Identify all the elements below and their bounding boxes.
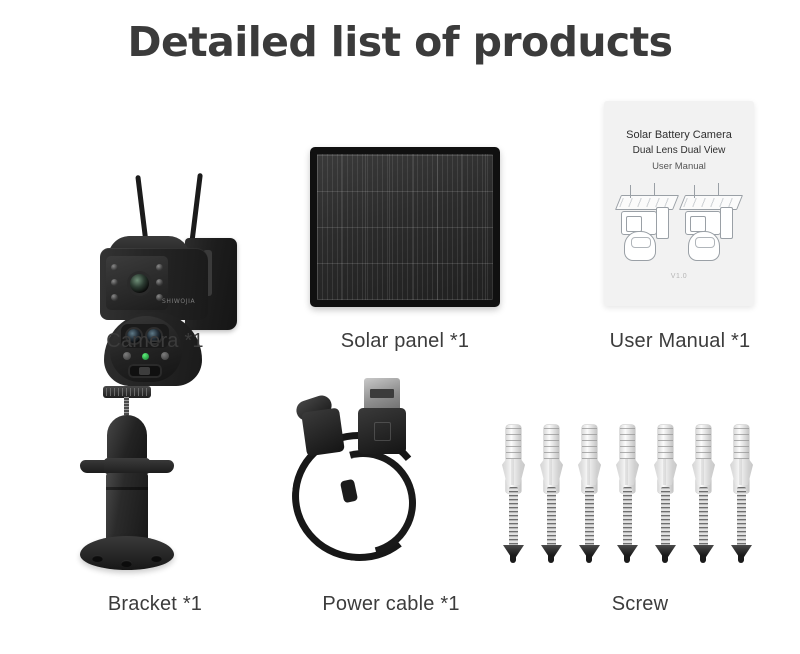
manual-cover: Solar Battery Camera Dual Lens Dual View…	[604, 101, 754, 306]
ir-led-icon	[111, 264, 118, 271]
camera-led-row	[123, 352, 169, 362]
manual-version: V1.0	[604, 273, 754, 280]
camera-speaker-icon	[128, 364, 162, 378]
ir-led-icon	[111, 279, 118, 286]
bracket-base-plate	[80, 536, 174, 570]
camera-illustration: SHIWOJIA	[90, 170, 290, 400]
figure-mount-arm	[656, 207, 669, 239]
caption-user-manual: User Manual *1	[560, 330, 800, 353]
bracket-collar	[104, 458, 150, 474]
ir-led-icon	[111, 294, 118, 301]
ir-led-icon	[123, 352, 131, 360]
ir-led-icon	[156, 279, 163, 286]
screw-shank	[547, 487, 556, 549]
manual-title-line3: User Manual	[604, 161, 754, 172]
product-cell-camera: SHIWOJIA Camera *1	[35, 85, 275, 355]
ir-led-icon	[161, 352, 169, 360]
product-cell-bracket: Bracket *1	[35, 378, 275, 628]
screw-unit	[728, 425, 754, 575]
bracket-screw-hole	[92, 555, 103, 562]
bracket-wing-right	[146, 460, 174, 473]
screw-unit	[652, 425, 678, 575]
power-cable-illustration	[276, 372, 451, 572]
figure-mount-arm	[720, 207, 733, 239]
user-manual-illustration: Solar Battery Camera Dual Lens Dual View…	[604, 101, 754, 306]
ir-led-icon	[156, 264, 163, 271]
product-cell-user-manual: Solar Battery Camera Dual Lens Dual View…	[560, 85, 800, 355]
screw-tip	[548, 555, 554, 563]
camera-lens-plate	[106, 256, 168, 310]
camera-main-lens-icon	[130, 274, 149, 293]
usb-c-housing	[301, 408, 345, 457]
screw-shank	[509, 487, 518, 549]
screw-tip	[510, 555, 516, 563]
screw-shank	[661, 487, 670, 549]
product-cell-power-cable: Power cable *1	[276, 372, 506, 628]
screw-unit	[538, 425, 564, 575]
figure-antenna-icon	[718, 183, 719, 196]
screw-tip	[624, 555, 630, 563]
figure-camera-dome	[624, 231, 656, 261]
camera-brand-label: SHIWOJIA	[162, 298, 195, 305]
figure-antenna-icon	[630, 185, 631, 198]
screw-shank	[585, 487, 594, 549]
manual-title-line2: Dual Lens Dual View	[604, 145, 754, 156]
screw-tip	[662, 555, 668, 563]
manual-title-line1: Solar Battery Camera	[604, 129, 754, 141]
screw-unit	[614, 425, 640, 575]
manual-camera-figure	[680, 183, 742, 261]
solar-panel-illustration	[310, 147, 500, 307]
screw-set-illustration	[500, 425, 755, 575]
figure-antenna-icon	[654, 183, 655, 196]
usb-a-connector-icon	[364, 378, 400, 412]
caption-solar-panel: Solar panel *1	[290, 330, 520, 353]
screw-unit	[500, 425, 526, 575]
screw-tip	[738, 555, 744, 563]
figure-solar-panel	[615, 195, 679, 210]
caption-camera: Camera *1	[35, 330, 275, 353]
figure-antenna-icon	[694, 185, 695, 198]
product-cell-screw: Screw	[500, 425, 780, 625]
product-cell-solar-panel: Solar panel *1	[290, 85, 520, 355]
product-list-page: Detailed list of products SHIWOJIA	[0, 0, 800, 654]
screw-tip	[700, 555, 706, 563]
solar-panel-cells	[317, 154, 493, 300]
screw-unit	[576, 425, 602, 575]
figure-camera-dome	[688, 231, 720, 261]
screw-shank	[737, 487, 746, 549]
manual-cover-artwork	[616, 183, 742, 261]
figure-solar-panel	[679, 195, 743, 210]
camera-upper-module: SHIWOJIA	[100, 248, 208, 320]
caption-power-cable: Power cable *1	[276, 593, 506, 616]
bracket-column	[106, 473, 148, 545]
screw-shank	[623, 487, 632, 549]
screw-shank	[699, 487, 708, 549]
bracket-illustration	[62, 378, 202, 573]
caption-bracket: Bracket *1	[35, 593, 275, 616]
screw-unit	[690, 425, 716, 575]
screw-tip	[586, 555, 592, 563]
usb-a-housing	[358, 408, 406, 454]
page-title: Detailed list of products	[0, 18, 800, 66]
bracket-screw-hole	[121, 560, 132, 567]
status-led-icon	[142, 353, 149, 360]
bracket-screw-hole	[151, 555, 162, 562]
caption-screw: Screw	[500, 593, 780, 616]
manual-camera-figure	[616, 183, 678, 261]
